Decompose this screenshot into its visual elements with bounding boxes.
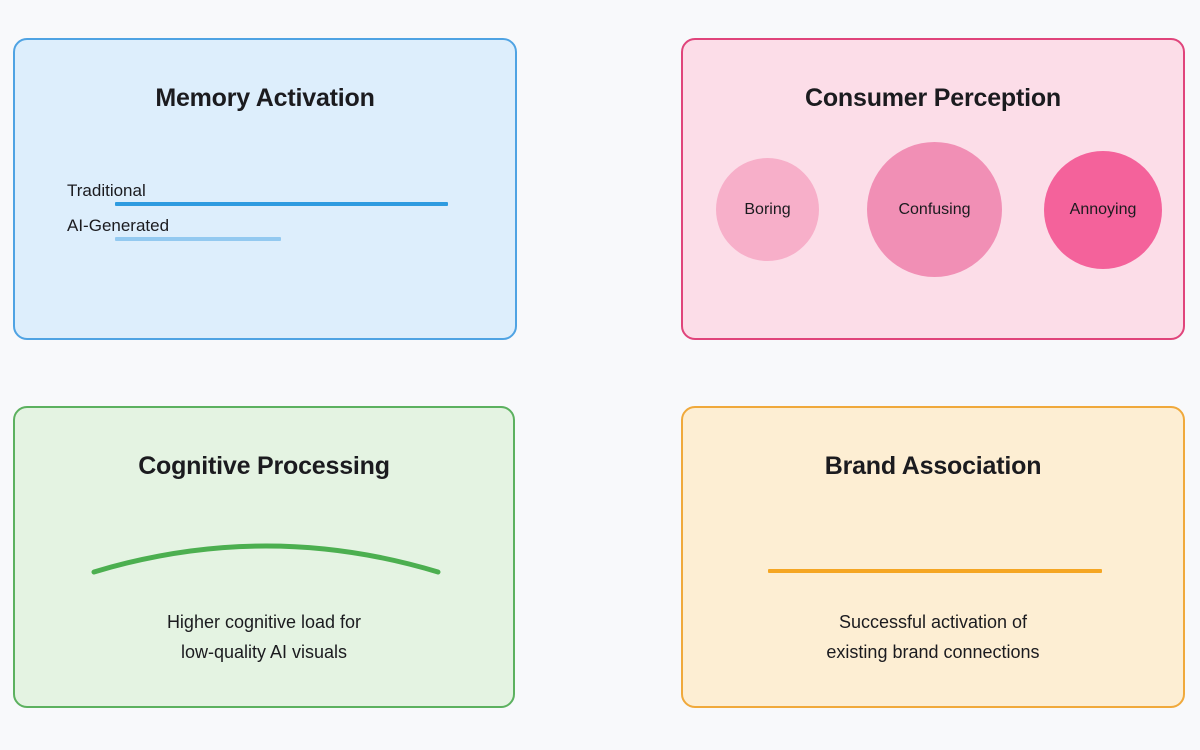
bubble-label-boring: Boring [744, 201, 790, 219]
card-consumer-perception[interactable]: Consumer Perception Boring Confusing Ann… [681, 38, 1185, 340]
bar-row-traditional: Traditional [67, 180, 487, 215]
bar-row-ai-generated: AI-Generated [67, 215, 487, 250]
bubble-confusing[interactable]: Confusing [867, 142, 1002, 277]
bar-label-ai-generated: AI-Generated [67, 215, 169, 237]
bar-label-traditional: Traditional [67, 180, 146, 202]
arc-icon [90, 528, 442, 576]
brand-connection-line [768, 569, 1102, 573]
bubble-annoying[interactable]: Annoying [1044, 151, 1162, 269]
bar-track-ai-generated [115, 237, 281, 241]
card-brand-association[interactable]: Brand Association Successful activation … [681, 406, 1185, 708]
card-title-memory-activation: Memory Activation [15, 84, 515, 113]
bar-fill-traditional [115, 202, 448, 206]
card-memory-activation[interactable]: Memory Activation Traditional AI-Generat… [13, 38, 517, 340]
diagram-canvas: Memory Activation Traditional AI-Generat… [0, 0, 1200, 750]
caption-brand-association: Successful activation of existing brand … [683, 607, 1183, 667]
memory-activation-bar-chart: Traditional AI-Generated [67, 180, 487, 250]
caption-line-1-brand: Successful activation of [683, 607, 1183, 637]
caption-line-2-brand: existing brand connections [683, 637, 1183, 667]
caption-line-1-cognitive: Higher cognitive load for [15, 607, 513, 637]
caption-cognitive-processing: Higher cognitive load for low-quality AI… [15, 607, 513, 667]
perception-bubble-group: Boring Confusing Annoying [683, 40, 1183, 338]
card-title-brand-association: Brand Association [683, 452, 1183, 481]
bubble-label-confusing: Confusing [898, 201, 970, 219]
bubble-label-annoying: Annoying [1070, 201, 1137, 219]
caption-line-2-cognitive: low-quality AI visuals [15, 637, 513, 667]
card-cognitive-processing[interactable]: Cognitive Processing Higher cognitive lo… [13, 406, 515, 708]
bubble-boring[interactable]: Boring [716, 158, 819, 261]
cognitive-load-arc [90, 528, 442, 576]
bar-track-traditional [115, 202, 448, 206]
card-title-cognitive-processing: Cognitive Processing [15, 452, 513, 481]
bar-fill-ai-generated [115, 237, 281, 241]
